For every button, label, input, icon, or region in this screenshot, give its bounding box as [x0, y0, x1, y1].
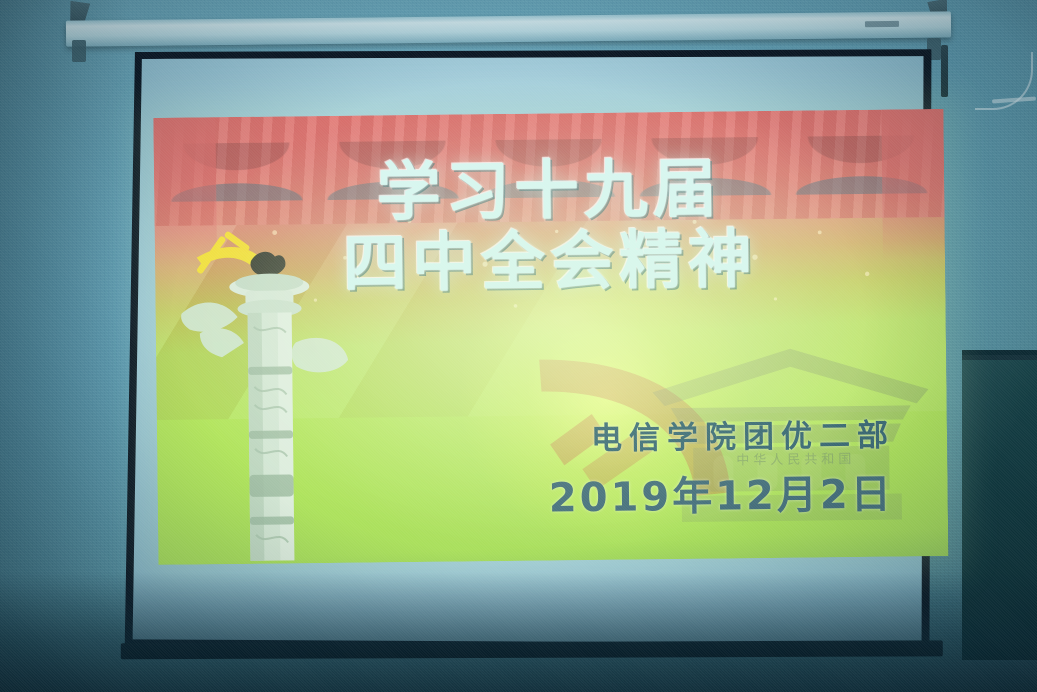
slide-title-line2: 四中全会精神 [155, 226, 946, 300]
classroom-photo: 学习十九届 四中全会精神 中华人民共和国 电信学院团优二部 2019年12月2日 [0, 0, 1037, 692]
slide-title: 学习十九届 四中全会精神 [154, 155, 945, 300]
roller-brand-label [865, 21, 899, 27]
slide-organization: 电信学院团优二部 [591, 410, 895, 458]
projection-screen[interactable]: 学习十九届 四中全会精神 中华人民共和国 电信学院团优二部 2019年12月2日 [81, 35, 952, 653]
projected-slide: 学习十九届 四中全会精神 中华人民共和国 电信学院团优二部 2019年12月2日 [153, 109, 948, 565]
slide-date: 2019年12月2日 [549, 462, 894, 524]
slide-title-line1: 学习十九届 [376, 153, 722, 231]
wall-shadow-bottom [0, 572, 1037, 692]
